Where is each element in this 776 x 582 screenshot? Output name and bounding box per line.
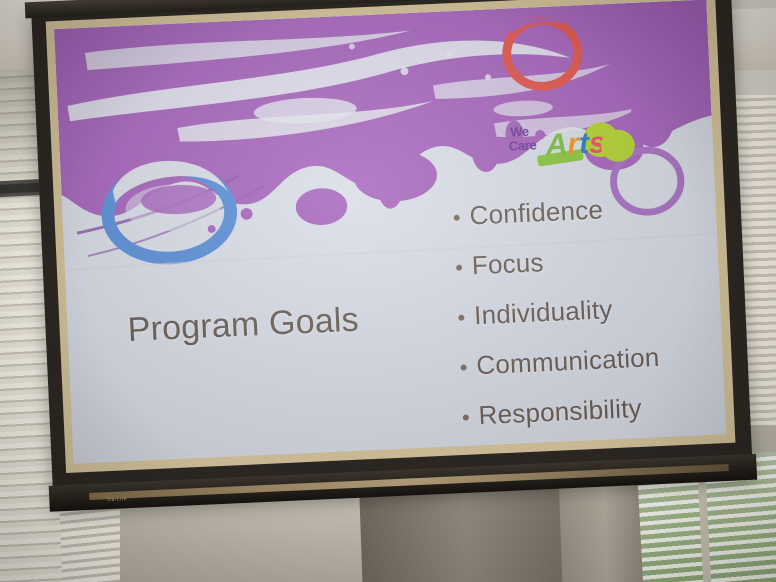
screen-matte-border: We Care Arts Program Goals • Confidence … — [46, 0, 736, 473]
logo-text-care: Care — [508, 137, 536, 153]
bullet-marker-icon: • — [455, 257, 464, 279]
bullet-item-communication: • Communication — [459, 338, 726, 382]
bullet-label: Communication — [476, 342, 660, 381]
bullet-marker-icon: • — [457, 307, 466, 329]
projected-slide: We Care Arts Program Goals • Confidence … — [54, 0, 726, 464]
bullet-item-focus: • Focus — [454, 238, 726, 282]
bullet-label: Confidence — [469, 194, 604, 231]
bullet-marker-icon: • — [462, 407, 471, 429]
bullet-marker-icon: • — [452, 207, 461, 229]
bullet-label: Responsibility — [478, 393, 642, 431]
bullet-item-individuality: • Individuality — [457, 288, 726, 332]
bullet-label: Individuality — [473, 294, 613, 331]
projection-screen: We Care Arts Program Goals • Confidence … — [31, 0, 753, 508]
we-care-arts-logo: We Care Arts — [508, 114, 611, 188]
bullet-marker-icon: • — [459, 357, 468, 379]
screen-brand-label: Da-Lite — [107, 496, 127, 503]
logo-text-arts: Arts — [545, 128, 606, 161]
slide-bullet-list: • Confidence • Focus • Individuality • C… — [452, 189, 726, 451]
bullet-label: Focus — [471, 247, 544, 281]
logo-letter-a: A — [545, 128, 568, 162]
bullet-item-responsibility: • Responsibility — [461, 388, 726, 432]
